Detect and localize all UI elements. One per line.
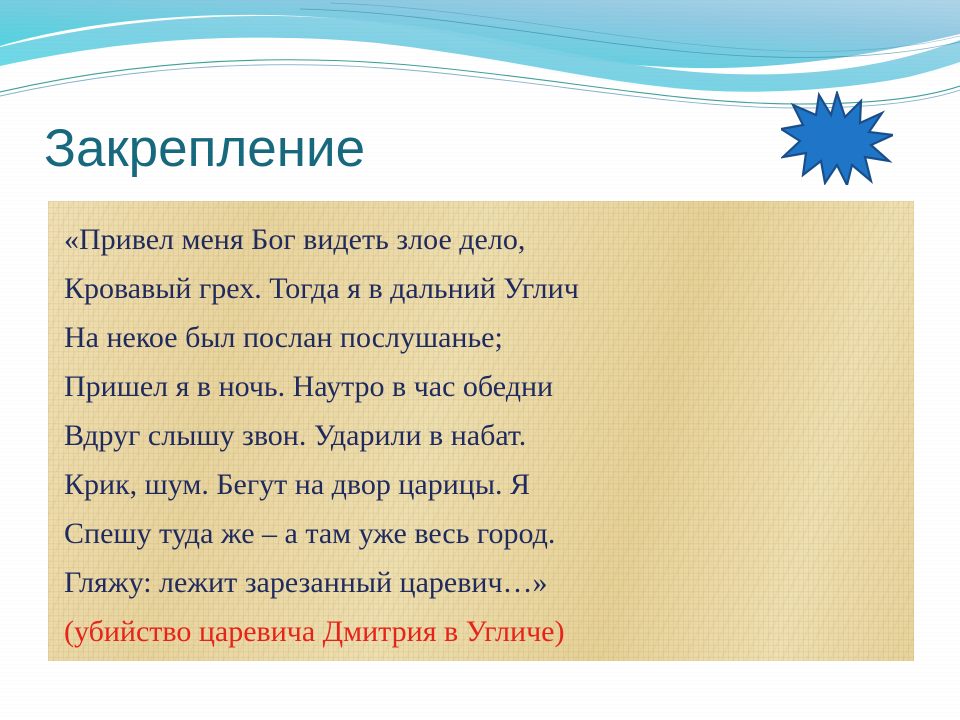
quote-line: Кровавый грех. Тогда я в дальний Углич [64, 264, 914, 313]
quote-panel: «Привел меня Бог видеть злое дело, Крова… [48, 201, 914, 661]
quote-line: Пришел я в ночь. Наутро в час обедни [64, 362, 914, 411]
quote-line: Гляжу: лежит зарезанный царевич…» [64, 558, 914, 607]
presentation-slide: Закрепление «Привел меня Бог видеть злое… [0, 0, 960, 720]
quote-line: На некое был послан послушанье; [64, 313, 914, 362]
quote-attribution: (убийство царевича Дмитрия в Угличе) [64, 607, 914, 656]
page-title: Закрепление [44, 117, 724, 187]
starburst-icon [781, 91, 893, 185]
quote-line: Вдруг слышу звон. Ударили в набат. [64, 411, 914, 460]
quote-line: Спешу туда же – а там уже весь город. [64, 509, 914, 558]
quote-line: «Привел меня Бог видеть злое дело, [64, 215, 914, 264]
quote-line: Крик, шум. Бегут на двор царицы. Я [64, 460, 914, 509]
